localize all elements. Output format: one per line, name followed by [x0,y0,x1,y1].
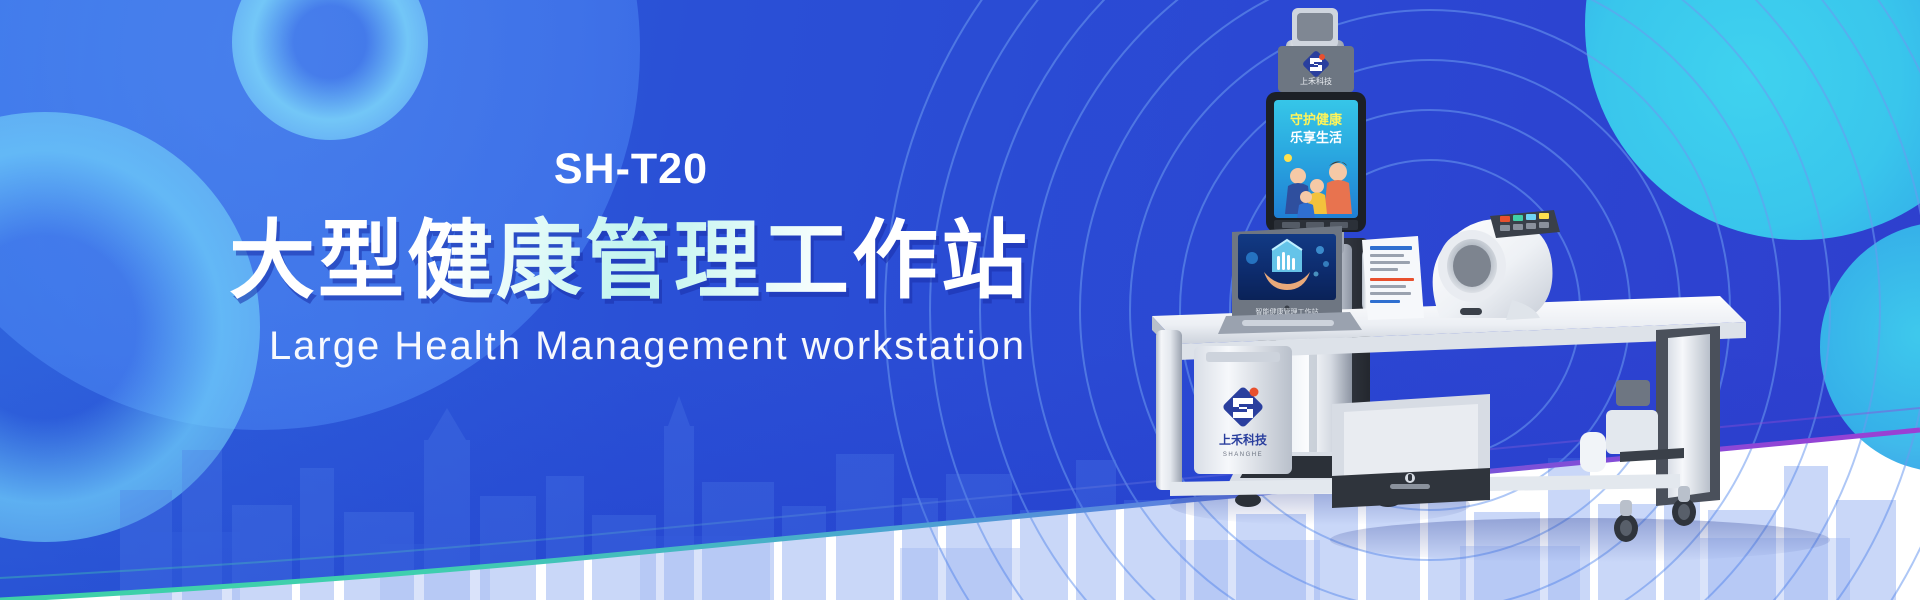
banner-background [0,0,1920,600]
printer-output-slot [1390,484,1430,489]
scale-foot-right [1375,493,1401,507]
desk-shadow [1330,518,1830,562]
product-banner: SH-T20 大型健康管理工作站 Large Health Management… [0,0,1920,600]
caster-wheel [1614,486,1696,542]
scale-foot-left [1235,493,1261,507]
